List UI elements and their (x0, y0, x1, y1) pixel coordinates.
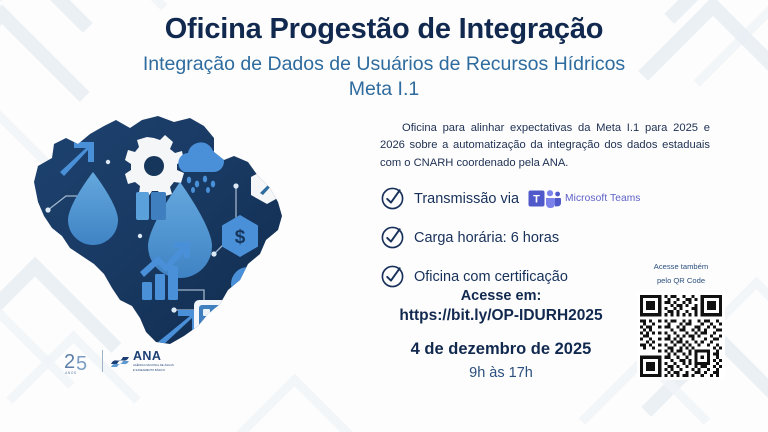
list-item-label: Oficina com certificação (414, 269, 568, 285)
ana-subtitle-line2: E SANEAMENTO BÁSICO (133, 369, 174, 372)
pie-chart-icon (231, 267, 265, 301)
qr-caption-line2: pelo QR Code (620, 276, 742, 286)
event-hours: 9h às 17h (372, 365, 630, 382)
logo-bar: 2 5 ANOS ANA AGÊNCIA NACIONAL DE ÁGUAS E… (63, 346, 174, 376)
svg-text:2: 2 (64, 351, 75, 373)
list-item-label: Carga horária: 6 horas (414, 230, 559, 246)
brazil-map-illustration: $ (8, 104, 308, 354)
poster-header: Oficina Progestão de Integração Integraç… (0, 14, 768, 102)
page-subtitle-line2: Meta I.1 (0, 77, 768, 102)
logo-divider (102, 350, 103, 372)
svg-text:ANOS: ANOS (65, 371, 77, 375)
ana-subtitle-line1: AGÊNCIA NACIONAL DE ÁGUAS (133, 364, 174, 367)
poster-canvas: Oficina Progestão de Integração Integraç… (0, 0, 768, 432)
check-circle-icon (380, 264, 405, 289)
ana-text-block: ANA AGÊNCIA NACIONAL DE ÁGUAS E SANEAMEN… (133, 350, 174, 372)
page-title: Oficina Progestão de Integração (0, 14, 768, 46)
page-subtitle-line1: Integração de Dados de Usuários de Recur… (0, 52, 768, 77)
book-icon (136, 192, 166, 220)
qr-code-block: Acesse também pelo QR Code (620, 262, 742, 380)
chevron-shape (232, 374, 358, 432)
list-item: Transmissão via T Microsoft Teams (380, 186, 710, 211)
event-info-block: Acesse em: https://bit.ly/OP-IDURH2025 4… (372, 287, 630, 383)
access-label: Acesse em: (372, 287, 630, 305)
ana-wave-icon (110, 353, 130, 369)
qr-code-image[interactable] (637, 292, 725, 380)
svg-text:5: 5 (76, 353, 87, 375)
check-circle-icon (380, 186, 405, 211)
event-url[interactable]: https://bit.ly/OP-IDURH2025 (372, 306, 630, 325)
svg-text:T: T (533, 194, 540, 206)
svg-text:$: $ (235, 227, 246, 248)
microsoft-teams-logo: T Microsoft Teams (528, 189, 640, 208)
ana-logo: ANA AGÊNCIA NACIONAL DE ÁGUAS E SANEAMEN… (110, 350, 174, 372)
ana-name: ANA (133, 350, 174, 363)
calculator-icon (194, 300, 244, 336)
intro-paragraph: Oficina para alinhar expectativas da Met… (380, 120, 710, 172)
qr-caption-line1: Acesse também (620, 262, 742, 272)
teams-label: Microsoft Teams (565, 193, 640, 204)
check-circle-icon (380, 225, 405, 250)
teams-icon: T (528, 189, 562, 208)
event-date: 4 de dezembro de 2025 (372, 340, 630, 360)
list-item-label: Transmissão via (414, 191, 519, 207)
list-item: Carga horária: 6 horas (380, 225, 710, 250)
anniversary-25-logo: 2 5 ANOS (63, 346, 95, 376)
